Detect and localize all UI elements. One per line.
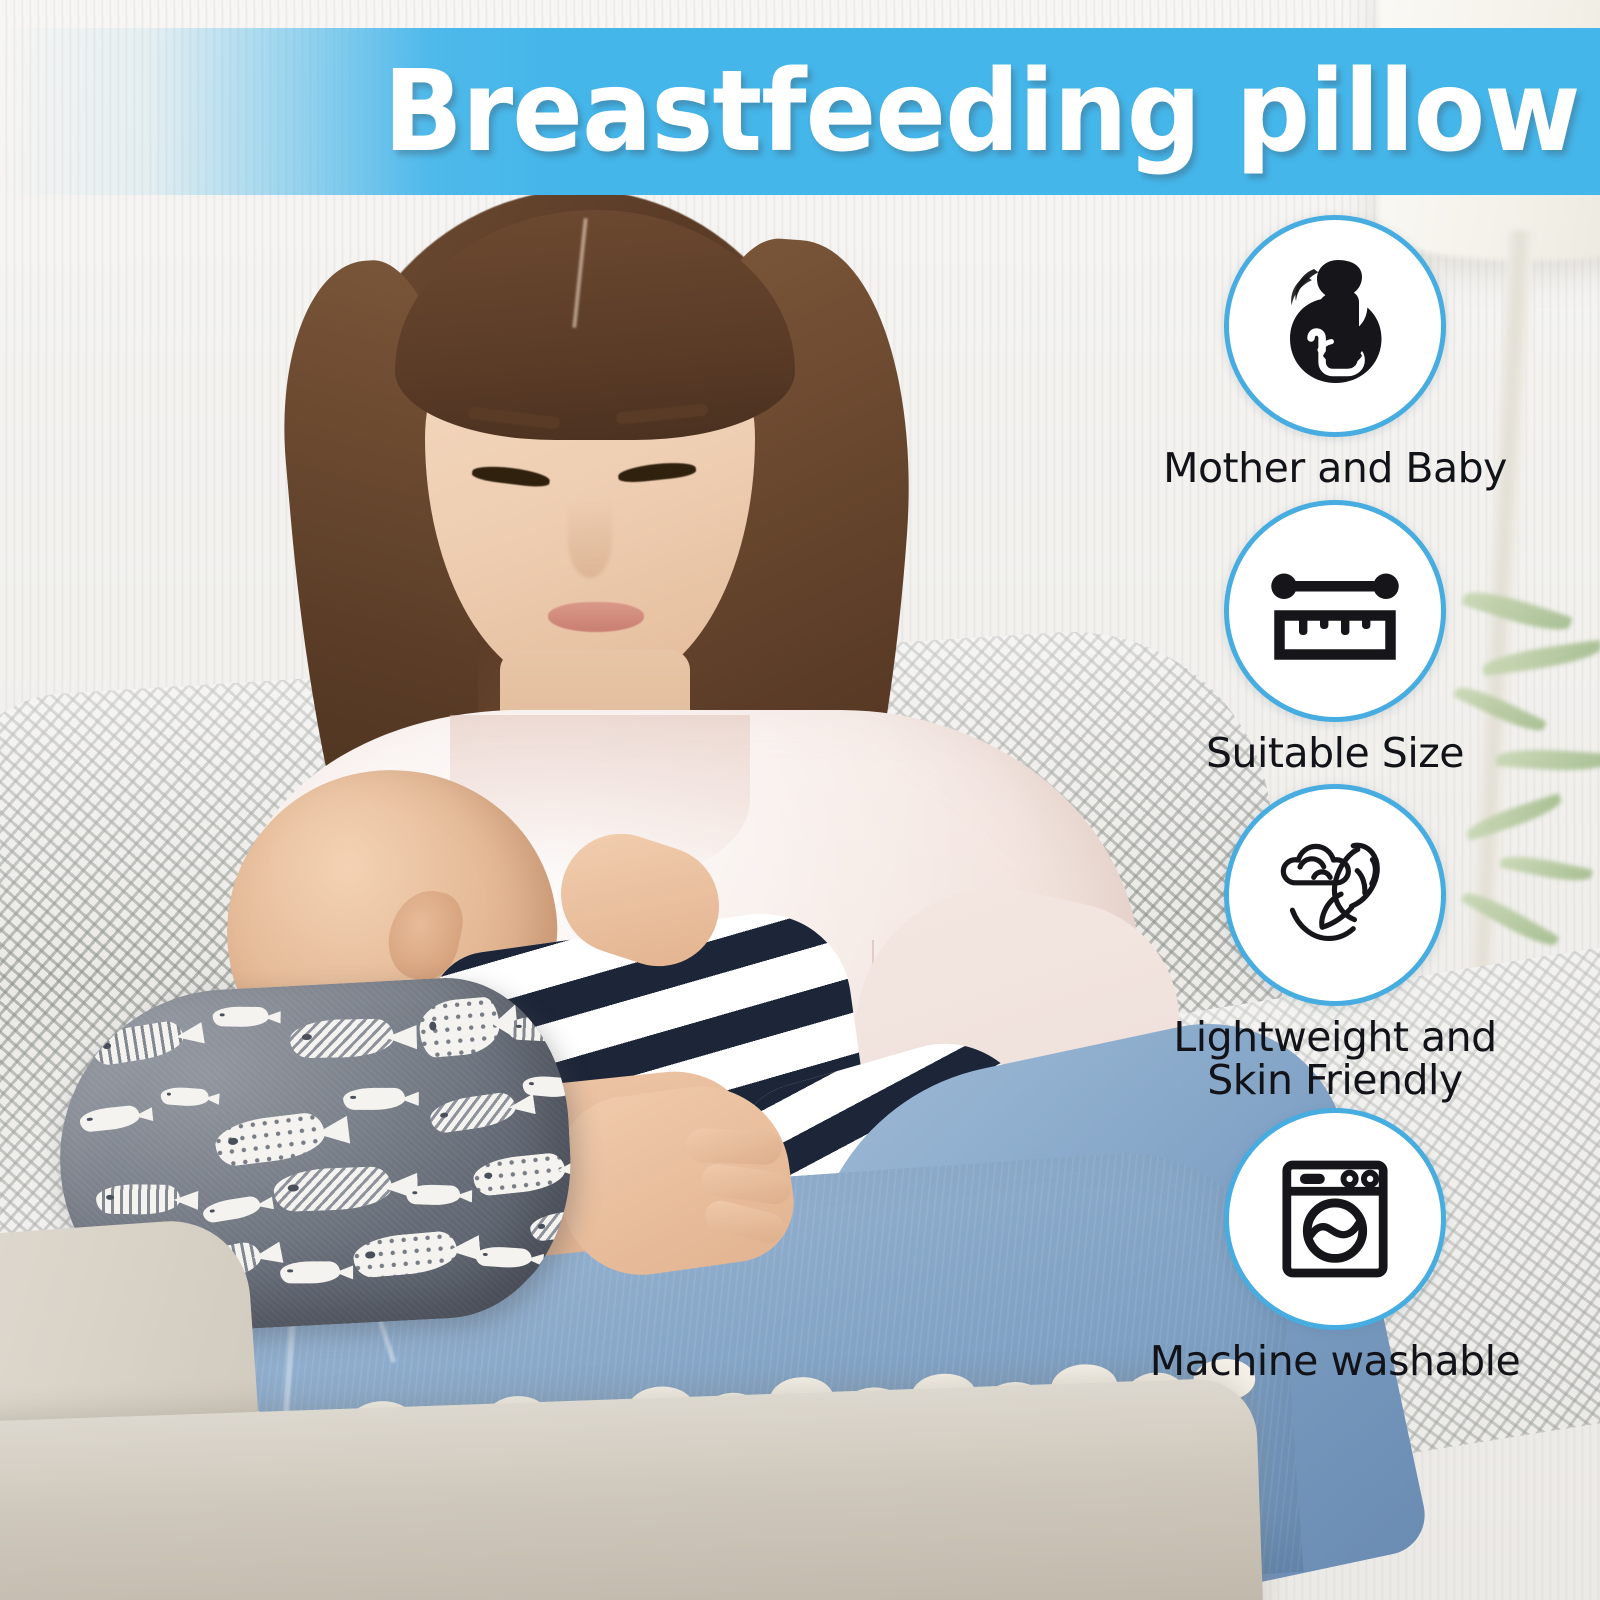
feature-lightweight-skin-friendly[interactable]: Lightweight and Skin Friendly [1120,784,1550,1101]
product-marketing-image: Breastfeeding pillow Mother and Baby [0,0,1600,1600]
page-title: Breastfeeding pillow [112,28,1600,195]
feature-mother-and-baby[interactable]: Mother and Baby [1120,215,1550,490]
washing-machine-icon [1262,1146,1408,1292]
nose [568,500,612,578]
feature-label: Lightweight and Skin Friendly [1173,1016,1496,1101]
mother-and-baby-icon [1260,251,1410,401]
feature-label: Suitable Size [1206,732,1464,775]
machine-washable-badge [1224,1108,1446,1330]
feature-suitable-size[interactable]: Suitable Size [1120,500,1550,775]
lips [548,602,644,632]
lightweight-badge [1224,784,1446,1006]
mother-and-baby-badge [1224,215,1446,437]
feature-label: Mother and Baby [1163,447,1507,490]
feature-list: Mother and Baby Suit [1120,215,1550,1382]
feature-machine-washable[interactable]: Machine washable [1120,1108,1550,1383]
ruler-measure-icon [1260,536,1410,686]
cloud-feather-icon [1259,819,1411,971]
feature-label: Machine washable [1150,1340,1520,1383]
suitable-size-badge [1224,500,1446,722]
